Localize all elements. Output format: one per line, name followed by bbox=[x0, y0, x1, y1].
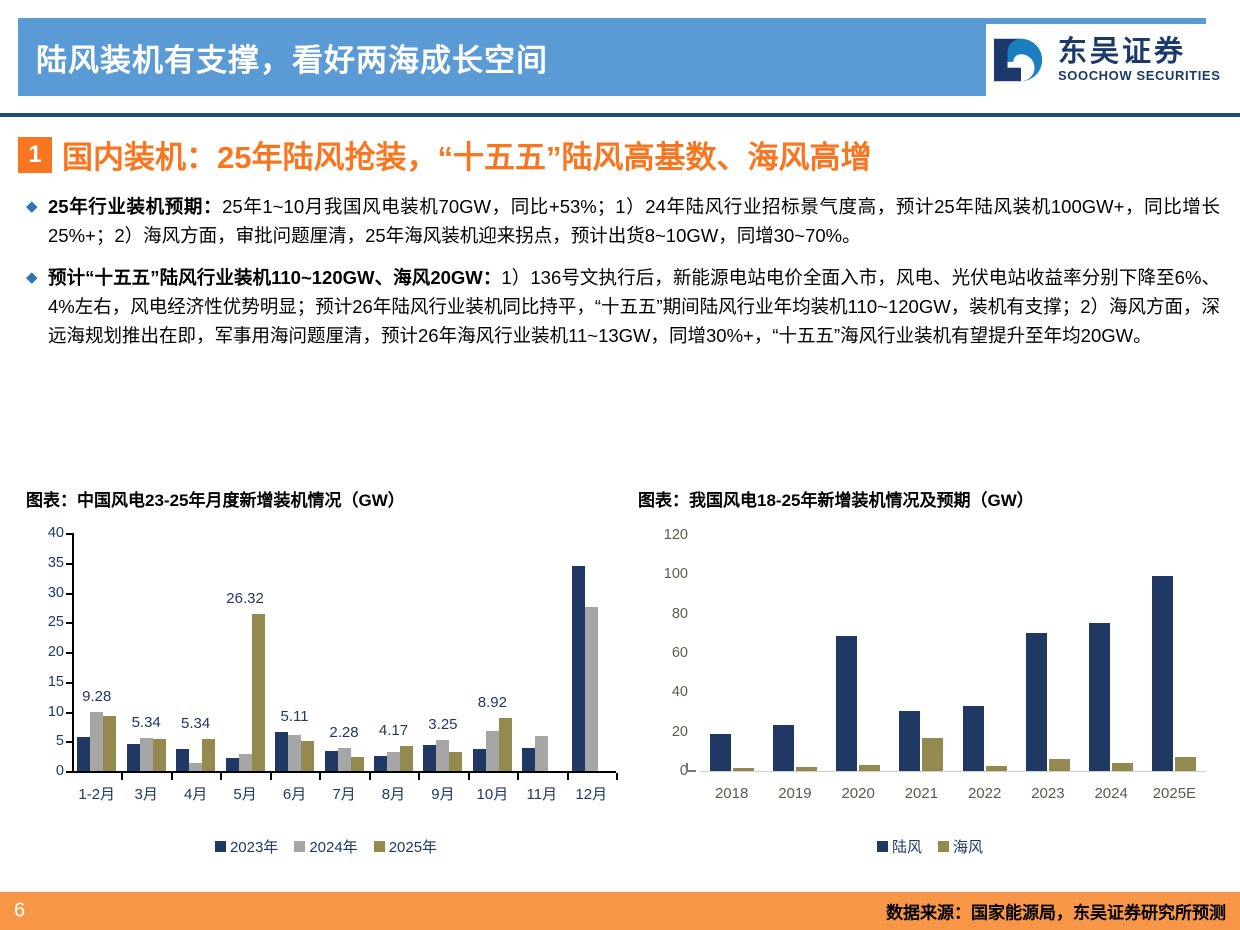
bar bbox=[103, 716, 116, 771]
y-axis-tick bbox=[66, 652, 72, 654]
chart-monthly-installs: 图表：中国风电23-25年月度新增装机情况（GW） 05101520253035… bbox=[26, 486, 626, 876]
bar bbox=[189, 763, 202, 771]
bar bbox=[275, 732, 288, 771]
y-axis-tick-label: 15 bbox=[48, 674, 64, 690]
bullet-item: ◆ 预计“十五五”陆风行业装机110~120GW、海风20GW：1）136号文执… bbox=[26, 263, 1220, 350]
x-axis-tick bbox=[418, 773, 420, 780]
legend-swatch-icon bbox=[877, 841, 888, 852]
x-axis-tick-label: 2018 bbox=[715, 785, 748, 802]
section-heading: 1 国内装机：25年陆风抢装，“十五五”陆风高基数、海风高增 bbox=[18, 132, 871, 177]
bar bbox=[449, 752, 462, 771]
legend-label: 陆风 bbox=[892, 836, 922, 857]
bar bbox=[963, 706, 984, 771]
bullet-text: 25年行业装机预期：25年1~10月我国风电装机70GW，同比+53%；1）24… bbox=[48, 192, 1220, 250]
bar bbox=[127, 744, 140, 771]
legend-item[interactable]: 2025年 bbox=[374, 836, 437, 857]
y-axis-tick-label: 40 bbox=[672, 684, 688, 700]
logo-cn-name: 东吴证券 bbox=[1058, 37, 1220, 67]
x-axis-tick-label: 1-2月 bbox=[78, 783, 115, 804]
bar bbox=[796, 767, 817, 771]
x-axis-line bbox=[700, 771, 1206, 772]
x-axis-tick-label: 2021 bbox=[905, 785, 938, 802]
y-axis-tick bbox=[66, 593, 72, 595]
bar bbox=[486, 731, 499, 771]
footer-bar: 6 数据来源：国家能源局，东吴证券研究所预测 bbox=[0, 892, 1240, 930]
y-axis-tick bbox=[66, 682, 72, 684]
x-axis-tick-label: 2022 bbox=[968, 785, 1001, 802]
chart-caption: 图表：中国风电23-25年月度新增装机情况（GW） bbox=[26, 486, 626, 511]
bar bbox=[1152, 576, 1173, 771]
soochow-securities-logo-icon bbox=[992, 33, 1050, 87]
body-bullets: ◆ 25年行业装机预期：25年1~10月我国风电装机70GW，同比+53%；1）… bbox=[26, 192, 1220, 363]
y-axis-tick-label: 0 bbox=[56, 763, 64, 779]
bar-data-label: 5.11 bbox=[280, 708, 308, 725]
bar bbox=[400, 746, 413, 771]
bar bbox=[499, 718, 512, 771]
x-axis-tick-label: 6月 bbox=[283, 783, 306, 804]
bar bbox=[338, 748, 351, 771]
source-note: 数据来源：国家能源局，东吴证券研究所预测 bbox=[886, 899, 1226, 924]
legend-swatch-icon bbox=[294, 841, 305, 852]
diamond-bullet-icon: ◆ bbox=[26, 192, 48, 221]
x-axis-tick-label: 8月 bbox=[382, 783, 405, 804]
bar bbox=[1049, 759, 1070, 771]
bar bbox=[585, 607, 598, 771]
bar bbox=[1175, 757, 1196, 771]
y-axis-tick bbox=[66, 533, 72, 535]
legend-label: 2024年 bbox=[309, 836, 357, 857]
legend-swatch-icon bbox=[215, 841, 226, 852]
bar bbox=[301, 741, 314, 771]
bar-data-label: 2.28 bbox=[329, 724, 358, 741]
x-axis-tick-label: 7月 bbox=[332, 783, 355, 804]
legend-item[interactable]: 2024年 bbox=[294, 836, 357, 857]
bar bbox=[77, 737, 90, 772]
y-axis-tick bbox=[66, 563, 72, 565]
chart-legend: 陆风海风 bbox=[638, 836, 1222, 857]
section-title: 国内装机：25年陆风抢装，“十五五”陆风高基数、海风高增 bbox=[62, 132, 871, 177]
bullet-lead: 预计“十五五”陆风行业装机110~120GW、海风20GW： bbox=[48, 267, 501, 288]
bar bbox=[1089, 623, 1110, 771]
bar bbox=[922, 738, 943, 771]
diamond-bullet-icon: ◆ bbox=[26, 263, 48, 292]
header-divider bbox=[0, 113, 1240, 117]
bar bbox=[423, 745, 436, 771]
y-axis-tick-label: 80 bbox=[672, 606, 688, 622]
x-axis-tick bbox=[270, 773, 272, 780]
bar bbox=[572, 566, 585, 771]
x-axis-tick bbox=[567, 773, 569, 780]
bar bbox=[522, 748, 535, 772]
x-axis-tick bbox=[319, 773, 321, 780]
bar-data-label: 5.34 bbox=[181, 715, 210, 732]
y-axis-tick-label: 20 bbox=[672, 724, 688, 740]
bar bbox=[710, 734, 731, 771]
bar bbox=[374, 756, 387, 771]
bar bbox=[202, 739, 215, 771]
bar bbox=[226, 758, 239, 771]
x-axis-tick-label: 3月 bbox=[135, 783, 158, 804]
legend-item[interactable]: 海风 bbox=[938, 836, 983, 857]
x-axis-tick-label: 11月 bbox=[527, 783, 558, 804]
x-axis-tick-label: 9月 bbox=[431, 783, 454, 804]
bullet-body: 25年1~10月我国风电装机70GW，同比+53%；1）24年陆风行业招标景气度… bbox=[48, 196, 1220, 246]
plot-area: 0204060801001202018201920202021202220232… bbox=[638, 521, 1222, 821]
x-axis-tick bbox=[171, 773, 173, 780]
page-title: 陆风装机有支撑，看好两海成长空间 bbox=[36, 18, 548, 96]
bar bbox=[325, 751, 338, 771]
bar bbox=[351, 757, 364, 771]
x-axis-tick bbox=[121, 773, 123, 780]
bar bbox=[1112, 763, 1133, 771]
y-axis-tick-label: 35 bbox=[48, 555, 64, 571]
x-axis-tick-label: 4月 bbox=[184, 783, 207, 804]
bar-data-label: 5.34 bbox=[132, 714, 161, 731]
y-axis-tick-label: 60 bbox=[672, 645, 688, 661]
x-axis-tick bbox=[616, 773, 618, 780]
chart-legend: 2023年2024年2025年 bbox=[26, 836, 626, 857]
x-axis-tick bbox=[517, 773, 519, 780]
bar bbox=[986, 766, 1007, 771]
legend-swatch-icon bbox=[374, 841, 385, 852]
bar bbox=[288, 735, 301, 771]
axis-corner-mark bbox=[686, 763, 696, 772]
bar bbox=[733, 768, 754, 771]
legend-swatch-icon bbox=[938, 841, 949, 852]
bar-data-label: 9.28 bbox=[82, 688, 111, 705]
y-axis-tick-label: 5 bbox=[56, 733, 64, 749]
x-axis-tick-label: 2020 bbox=[841, 785, 874, 802]
bar bbox=[239, 754, 252, 771]
bar bbox=[836, 636, 857, 771]
brand-logo: 东吴证券 SOOCHOW SECURITIES bbox=[986, 24, 1222, 96]
chart-annual-installs: 图表：我国风电18-25年新增装机情况及预期（GW） 0204060801001… bbox=[638, 486, 1222, 876]
y-axis-tick-label: 120 bbox=[664, 527, 688, 543]
chart-caption: 图表：我国风电18-25年新增装机情况及预期（GW） bbox=[638, 486, 1222, 511]
bullet-lead: 25年行业装机预期： bbox=[48, 196, 222, 217]
x-axis-tick-label: 2023 bbox=[1031, 785, 1064, 802]
x-axis-tick-label: 2025E bbox=[1153, 785, 1196, 802]
bullet-text: 预计“十五五”陆风行业装机110~120GW、海风20GW：1）136号文执行后… bbox=[48, 263, 1220, 350]
page-number: 6 bbox=[14, 900, 25, 923]
y-axis-tick-label: 40 bbox=[48, 525, 64, 541]
bullet-item: ◆ 25年行业装机预期：25年1~10月我国风电装机70GW，同比+53%；1）… bbox=[26, 192, 1220, 250]
bar bbox=[1026, 633, 1047, 771]
x-axis-tick bbox=[369, 773, 371, 780]
bar bbox=[252, 614, 265, 771]
plot-area: 05101520253035401-2月3月4月5月6月7月8月9月10月11月… bbox=[26, 521, 626, 821]
y-axis-tick-label: 20 bbox=[48, 644, 64, 660]
bar bbox=[535, 736, 548, 771]
legend-item[interactable]: 2023年 bbox=[215, 836, 278, 857]
bar-data-label: 4.17 bbox=[379, 722, 408, 739]
y-axis-tick bbox=[66, 622, 72, 624]
x-axis-tick-label: 10月 bbox=[477, 783, 509, 804]
y-axis-line bbox=[72, 533, 74, 771]
y-axis-tick bbox=[66, 712, 72, 714]
bar bbox=[436, 740, 449, 771]
bar bbox=[90, 712, 103, 771]
legend-label: 海风 bbox=[953, 836, 983, 857]
x-axis-tick-label: 5月 bbox=[233, 783, 256, 804]
y-axis-tick-label: 25 bbox=[48, 614, 64, 630]
bar-data-label: 8.92 bbox=[478, 694, 507, 711]
y-axis-tick bbox=[66, 741, 72, 743]
x-axis-tick-label: 2019 bbox=[778, 785, 811, 802]
bar bbox=[773, 725, 794, 771]
bar bbox=[176, 749, 189, 771]
x-axis-line bbox=[72, 771, 616, 773]
y-axis-tick-label: 30 bbox=[48, 585, 64, 601]
section-number-badge: 1 bbox=[18, 137, 52, 173]
bar bbox=[387, 752, 400, 771]
x-axis-tick-label: 2024 bbox=[1094, 785, 1127, 802]
y-axis-tick-label: 100 bbox=[664, 566, 688, 582]
slide-header: 陆风装机有支撑，看好两海成长空间 东吴证券 SOOCHOW SECURITIES bbox=[0, 0, 1240, 122]
bar bbox=[899, 711, 920, 771]
logo-en-name: SOOCHOW SECURITIES bbox=[1058, 69, 1220, 83]
bar bbox=[153, 739, 166, 771]
legend-label: 2023年 bbox=[230, 836, 278, 857]
bar bbox=[140, 738, 153, 771]
x-axis-tick bbox=[220, 773, 222, 780]
bar-data-label: 3.25 bbox=[428, 716, 457, 733]
y-axis-tick-label: 10 bbox=[48, 704, 64, 720]
bar-data-label: 26.32 bbox=[226, 590, 264, 607]
x-axis-tick bbox=[468, 773, 470, 780]
legend-item[interactable]: 陆风 bbox=[877, 836, 922, 857]
bar bbox=[859, 765, 880, 771]
legend-label: 2025年 bbox=[389, 836, 437, 857]
bar bbox=[473, 749, 486, 771]
x-axis-tick-label: 12月 bbox=[575, 783, 607, 804]
